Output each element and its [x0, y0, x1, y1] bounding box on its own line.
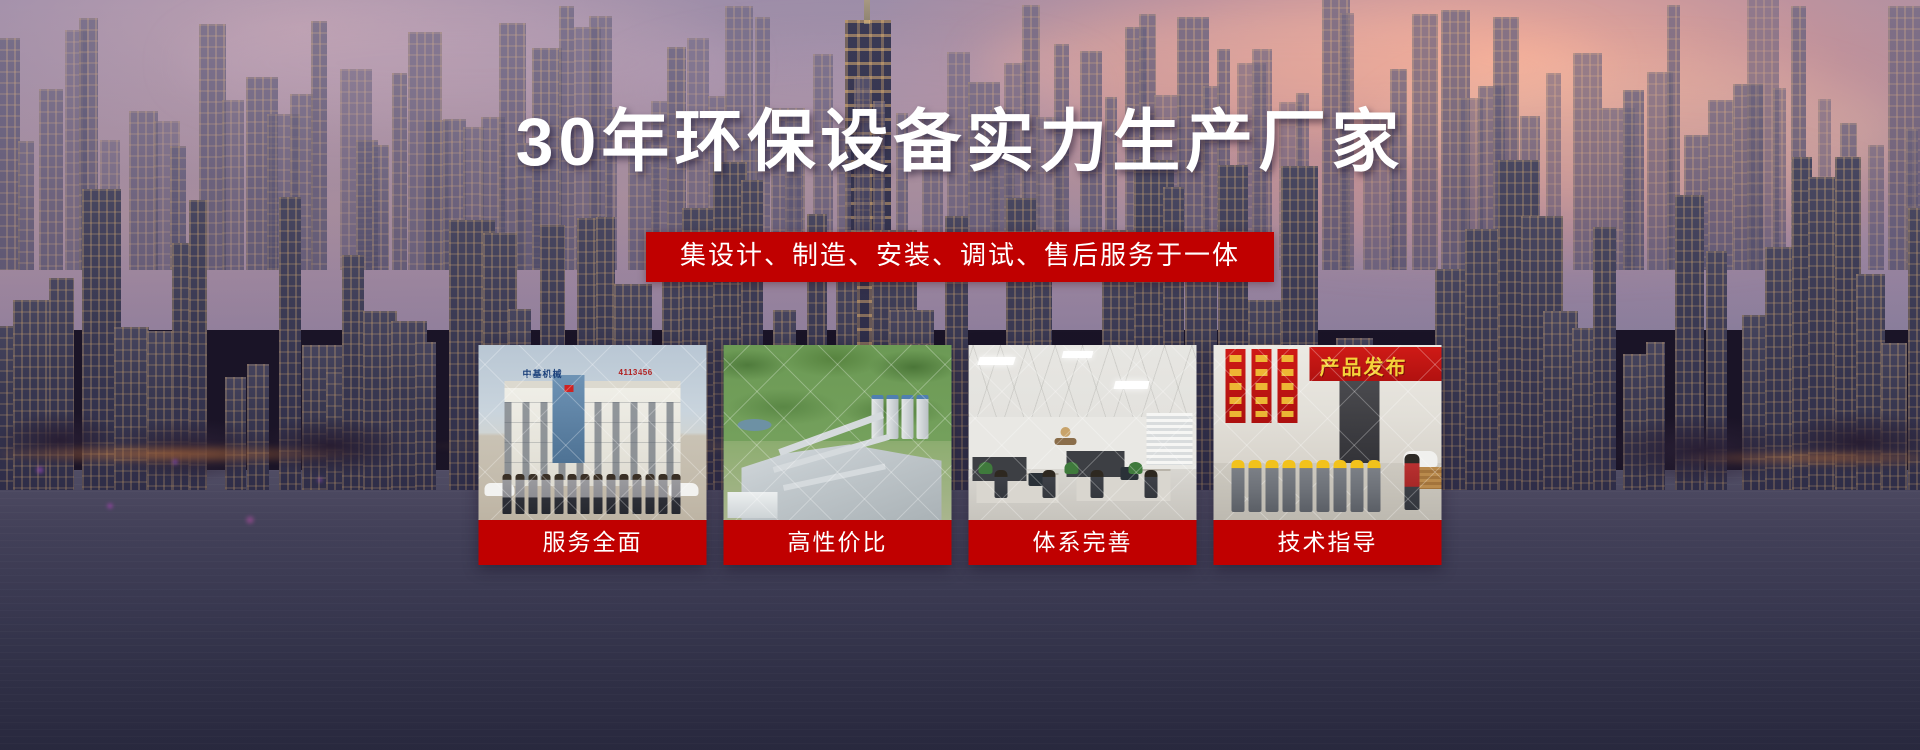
feature-card[interactable]: 高性价比: [724, 345, 952, 565]
person-figure: [672, 474, 681, 514]
person-figure: [594, 474, 603, 514]
worker-figure: [1266, 460, 1279, 512]
factory-banner-text: 产品发布: [1320, 351, 1408, 380]
office-interior-photo: [969, 345, 1197, 520]
feature-card-label: 体系完善: [969, 520, 1197, 565]
office-building-photo: 中基机械 4113456: [479, 345, 707, 520]
wall-logo-icon: [1055, 427, 1077, 447]
factory-banner: 产品发布: [1310, 347, 1442, 381]
worker-figure: [1283, 460, 1296, 512]
person-figure: [542, 474, 551, 514]
person-figure: [555, 474, 564, 514]
flag-icon: [565, 385, 574, 392]
feature-card-label: 技术指导: [1214, 520, 1442, 565]
worker-figure: [1317, 460, 1330, 512]
person-figure: [607, 474, 616, 514]
person-figure: [633, 474, 642, 514]
person-figure: [581, 474, 590, 514]
person-figure: [516, 474, 525, 514]
person-figure: [568, 474, 577, 514]
worker-figure: [1334, 460, 1347, 512]
person-figure: [503, 474, 512, 514]
feature-card-list: 中基机械 4113456 服务全面: [479, 345, 1442, 565]
hero-banner: 30年环保设备实力生产厂家 集设计、制造、安装、调试、售后服务于一体 中基机械 …: [0, 0, 1920, 750]
supervisor-figure: [1405, 454, 1420, 510]
banner-headline: 30年环保设备实力生产厂家: [0, 108, 1920, 176]
banner-subtitle-bar: 集设计、制造、安装、调试、售后服务于一体: [646, 232, 1274, 282]
person-figure: [529, 474, 538, 514]
workshop-workers-photo: 产品发布: [1214, 345, 1442, 520]
banner-content: 30年环保设备实力生产厂家 集设计、制造、安装、调试、售后服务于一体 中基机械 …: [0, 0, 1920, 750]
aerial-plant-photo: [724, 345, 952, 520]
feature-card[interactable]: 产品发布 技术指导: [1214, 345, 1442, 565]
building-sign-text: 中基机械: [523, 367, 563, 380]
feature-card-label: 服务全面: [479, 520, 707, 565]
person-figure: [659, 474, 668, 514]
worker-figure: [1300, 460, 1313, 512]
feature-card[interactable]: 中基机械 4113456 服务全面: [479, 345, 707, 565]
person-figure: [646, 474, 655, 514]
feature-card-label: 高性价比: [724, 520, 952, 565]
feature-card[interactable]: 体系完善: [969, 345, 1197, 565]
worker-figure: [1351, 460, 1364, 512]
worker-figure: [1368, 460, 1381, 512]
staff-row: [503, 472, 683, 514]
worker-figure: [1232, 460, 1245, 512]
person-figure: [620, 474, 629, 514]
worker-figure: [1249, 460, 1262, 512]
building-phone-text: 4113456: [619, 368, 653, 377]
